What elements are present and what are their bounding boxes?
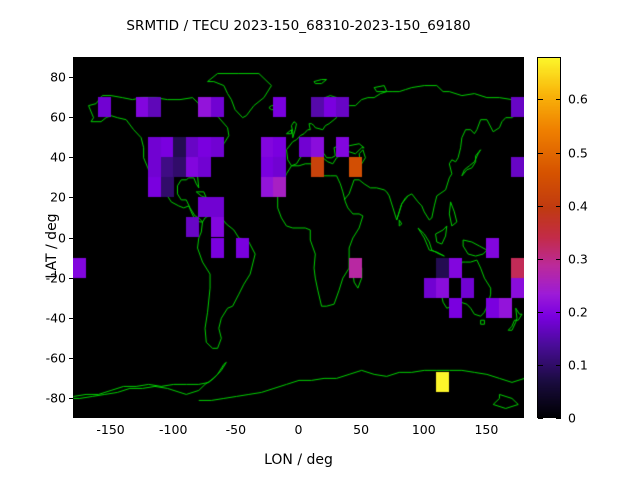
map-plot-area[interactable] bbox=[73, 57, 524, 418]
colorbar-tick-mark bbox=[556, 153, 561, 154]
colorbar-tick-label: 0.4 bbox=[568, 198, 588, 213]
y-tick-mark bbox=[69, 278, 73, 279]
x-tick-label: -100 bbox=[159, 422, 187, 437]
colorbar-tick-label: 0.1 bbox=[568, 357, 588, 372]
colorbar-tick-mark bbox=[538, 99, 543, 100]
colorbar-tick-mark bbox=[538, 259, 543, 260]
colorbar-tick-label: 0.6 bbox=[568, 92, 588, 107]
x-tick-label: 100 bbox=[412, 422, 436, 437]
y-tick-label: -80 bbox=[46, 390, 66, 405]
x-tick-label: -50 bbox=[226, 422, 246, 437]
x-tick-mark bbox=[236, 414, 237, 418]
colorbar-tick-mark bbox=[538, 418, 543, 419]
colorbar-tick-mark bbox=[538, 153, 543, 154]
colorbar-tick-label: 0.2 bbox=[568, 304, 588, 319]
y-tick-mark bbox=[69, 77, 73, 78]
x-tick-mark bbox=[424, 414, 425, 418]
y-tick-mark bbox=[69, 318, 73, 319]
y-tick-label: -60 bbox=[46, 350, 66, 365]
colorbar[interactable] bbox=[537, 57, 561, 418]
x-tick-mark bbox=[361, 414, 362, 418]
x-tick-mark bbox=[173, 414, 174, 418]
figure-canvas: SRMTID / TECU 2023-150_68310-2023-150_69… bbox=[0, 0, 640, 480]
y-tick-mark bbox=[69, 197, 73, 198]
x-tick-label: 150 bbox=[474, 422, 498, 437]
colorbar-tick-mark bbox=[538, 312, 543, 313]
colorbar-tick-mark bbox=[538, 365, 543, 366]
x-axis-label: LON / deg bbox=[73, 452, 524, 468]
y-tick-label: 80 bbox=[50, 70, 66, 85]
y-tick-mark bbox=[69, 117, 73, 118]
x-tick-label: 0 bbox=[295, 422, 303, 437]
colorbar-tick-label: 0 bbox=[568, 411, 576, 426]
colorbar-tick-mark bbox=[556, 206, 561, 207]
plot-title: SRMTID / TECU 2023-150_68310-2023-150_69… bbox=[0, 18, 597, 34]
colorbar-gradient bbox=[538, 58, 560, 417]
x-tick-label: 50 bbox=[353, 422, 369, 437]
colorbar-tick-mark bbox=[556, 99, 561, 100]
y-axis-label: LAT / deg bbox=[44, 186, 60, 306]
x-tick-label: -150 bbox=[96, 422, 124, 437]
x-tick-mark bbox=[299, 414, 300, 418]
colorbar-tick-mark bbox=[556, 312, 561, 313]
tid-data-layer bbox=[73, 57, 524, 418]
y-tick-mark bbox=[69, 238, 73, 239]
y-tick-label: 40 bbox=[50, 150, 66, 165]
colorbar-tick-label: 0.5 bbox=[568, 145, 588, 160]
colorbar-tick-label: 0.3 bbox=[568, 251, 588, 266]
y-tick-label: -40 bbox=[46, 310, 66, 325]
colorbar-tick-mark bbox=[538, 206, 543, 207]
y-tick-label: 60 bbox=[50, 110, 66, 125]
y-tick-mark bbox=[69, 157, 73, 158]
y-tick-mark bbox=[69, 358, 73, 359]
x-tick-mark bbox=[111, 414, 112, 418]
colorbar-tick-mark bbox=[556, 418, 561, 419]
y-tick-mark bbox=[69, 398, 73, 399]
x-tick-mark bbox=[486, 414, 487, 418]
colorbar-tick-mark bbox=[556, 259, 561, 260]
colorbar-tick-mark bbox=[556, 365, 561, 366]
